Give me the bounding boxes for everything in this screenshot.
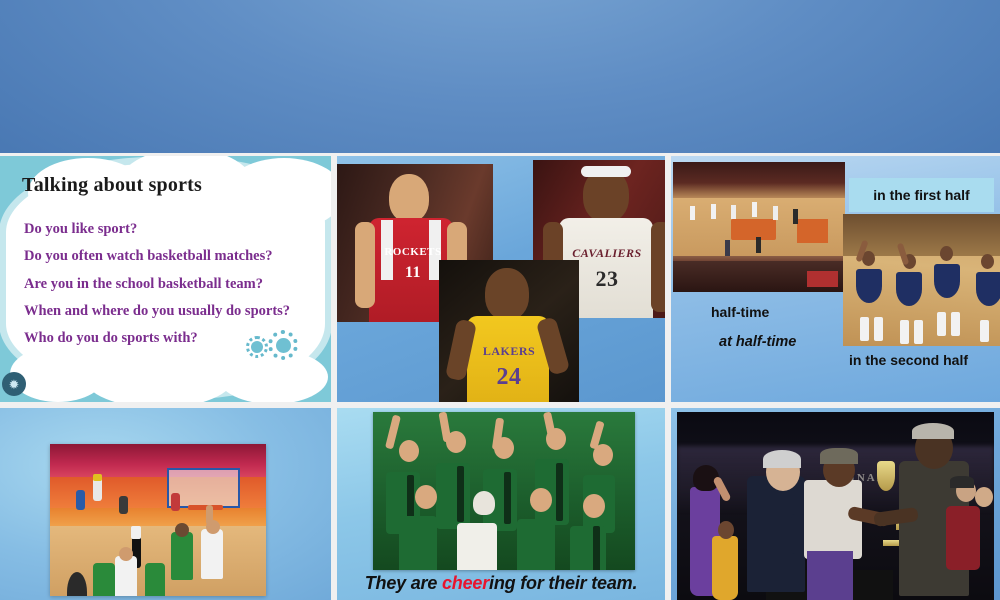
caption-suffix: ing for their team. <box>489 573 637 593</box>
page-title: Talking about sports <box>22 174 202 197</box>
label-half-time: half-time <box>711 304 769 320</box>
flower-burst-icon <box>246 330 300 364</box>
label-in-the-first-half: in the first half <box>849 178 994 212</box>
panel-talking-about-sports: Talking about sports Do you like sport? … <box>0 153 334 405</box>
panel-basketball-players: ROCKETS 11 CAVALIERS 23 LAKERS 24 <box>334 153 668 405</box>
caption-cheering: They are cheering for their team. <box>337 573 665 594</box>
list-item: Do you often watch basketball matches? <box>24 243 314 270</box>
caption-prefix: They are <box>365 573 442 593</box>
cloud-bump <box>84 346 234 405</box>
label-in-the-second-half: in the second half <box>849 352 968 368</box>
list-item: Are you in the school basketball team? <box>24 271 314 298</box>
jersey-number-label: 24 <box>439 364 579 391</box>
caption-highlight: cheer <box>442 573 489 593</box>
arena-photo <box>673 162 845 292</box>
jersey-team-label: LAKERS <box>439 344 579 359</box>
jersey-team-label: ROCKETS <box>334 246 493 258</box>
cheerleaders-photo <box>843 214 1000 346</box>
jersey-team-label: CAVALIERS <box>533 246 668 261</box>
fans-photo <box>373 412 635 570</box>
ceremony-photo: FINALS <box>677 412 994 600</box>
publisher-logo-icon: ✹ <box>2 372 26 396</box>
slide-panel-grid: Talking about sports Do you like sport? … <box>0 153 1000 600</box>
panel-cheering-fans: They are cheering for their team. <box>334 405 668 600</box>
list-item: Do you like sport? <box>24 216 314 243</box>
panel-trophy-ceremony: FINALS <box>668 405 1000 600</box>
panel-basketball-game <box>0 405 334 600</box>
player-photo-lakers: LAKERS 24 <box>439 260 579 405</box>
game-photo <box>50 444 266 596</box>
list-item: When and where do you usually do sports? <box>24 298 314 325</box>
label-at-half-time: at half-time <box>719 334 796 350</box>
panel-half-time: in the first half half-time at half-time <box>668 153 1000 405</box>
